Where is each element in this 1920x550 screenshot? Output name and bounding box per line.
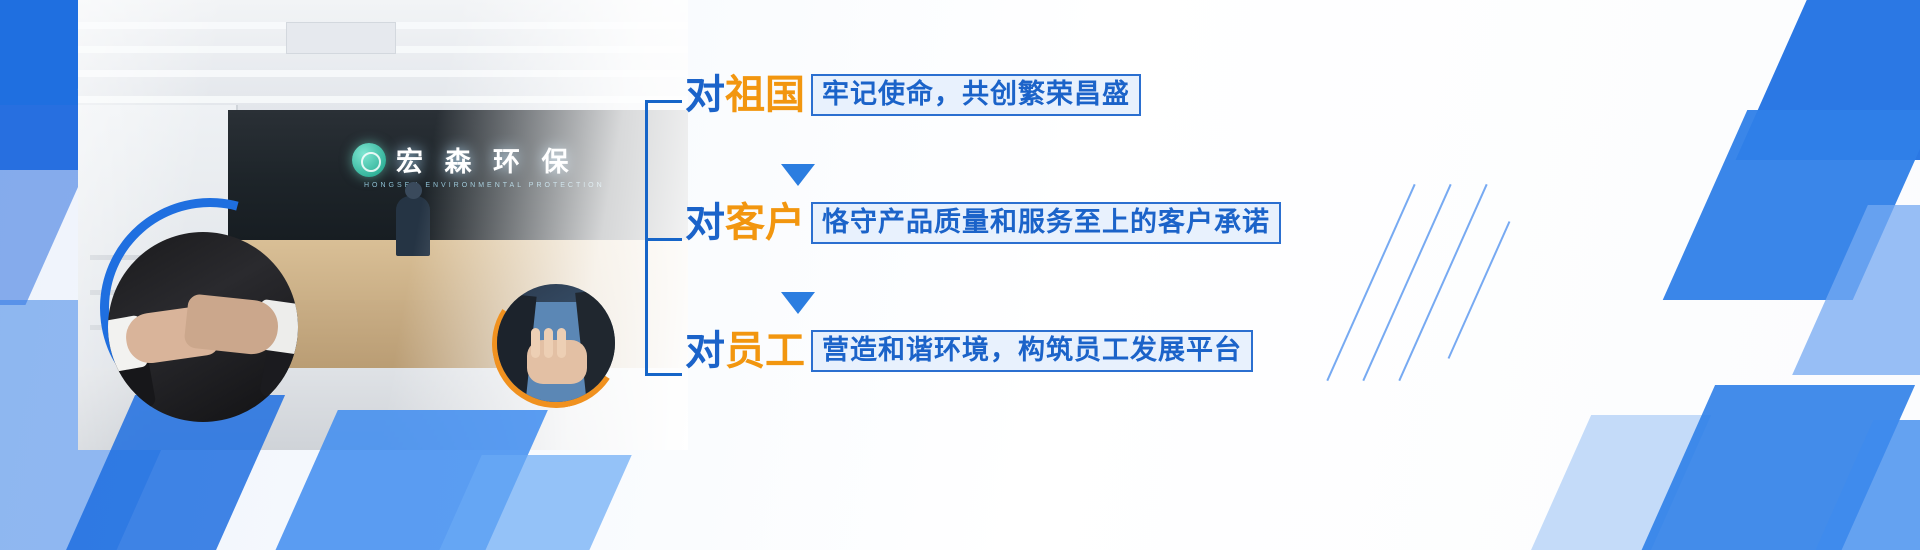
lead-keyword: 员工 [725, 329, 805, 373]
statement-box-country: 牢记使命，共创繁荣昌盛 [811, 74, 1141, 116]
statement-row-customer: 对客户 恪守产品质量和服务至上的客户承诺 [685, 202, 1281, 244]
lead-keyword: 客户 [725, 201, 805, 245]
company-culture-banner: 宏 森 环 保 HONGSEN ENVIRONMENTAL PROTECTION [0, 0, 1920, 550]
reception-wall-panel [228, 110, 688, 240]
ceiling-vent [286, 22, 396, 54]
finger [544, 328, 553, 358]
triangle-down-icon [781, 292, 815, 314]
statement-lead-country: 对祖国 [685, 75, 805, 115]
statement-text: 恪守产品质量和服务至上的客户承诺 [822, 209, 1270, 236]
applause-photo [497, 284, 615, 402]
lead-prefix: 对 [685, 329, 725, 373]
ceiling-strip [78, 46, 688, 53]
statement-box-customer: 恪守产品质量和服务至上的客户承诺 [811, 202, 1281, 244]
ceiling-strip [78, 70, 688, 77]
company-sign-text: 宏 森 环 保 [396, 140, 576, 179]
company-sign-subtext: HONGSEN ENVIRONMENTAL PROTECTION [364, 182, 605, 189]
handshake-photo [108, 232, 298, 422]
receptionist [396, 196, 430, 256]
finger [531, 328, 540, 358]
lead-prefix: 对 [685, 73, 725, 117]
lead-keyword: 祖国 [725, 73, 805, 117]
bracket-connector-icon [645, 100, 679, 376]
statement-lead-customer: 对客户 [685, 203, 805, 243]
culture-statements: 对祖国 牢记使命，共创繁荣昌盛 对客户 恪守产品质量和服务至上的客户承诺 对员工… [645, 74, 1365, 404]
statement-box-employee: 营造和谐环境，构筑员工发展平台 [811, 330, 1253, 372]
company-sign: 宏 森 环 保 [352, 140, 576, 179]
decor-diagonal-lines [1360, 175, 1590, 395]
statement-lead-employee: 对员工 [685, 331, 805, 371]
ceiling-strip [78, 96, 688, 103]
globe-logo-icon [352, 143, 386, 177]
statement-row-employee: 对员工 营造和谐环境，构筑员工发展平台 [685, 330, 1253, 372]
finger [557, 328, 566, 358]
statement-text: 牢记使命，共创繁荣昌盛 [822, 81, 1130, 108]
ceiling-strip [78, 22, 688, 29]
statement-row-country: 对祖国 牢记使命，共创繁荣昌盛 [685, 74, 1141, 116]
lead-prefix: 对 [685, 201, 725, 245]
statement-text: 营造和谐环境，构筑员工发展平台 [822, 337, 1242, 364]
triangle-down-icon [781, 164, 815, 186]
